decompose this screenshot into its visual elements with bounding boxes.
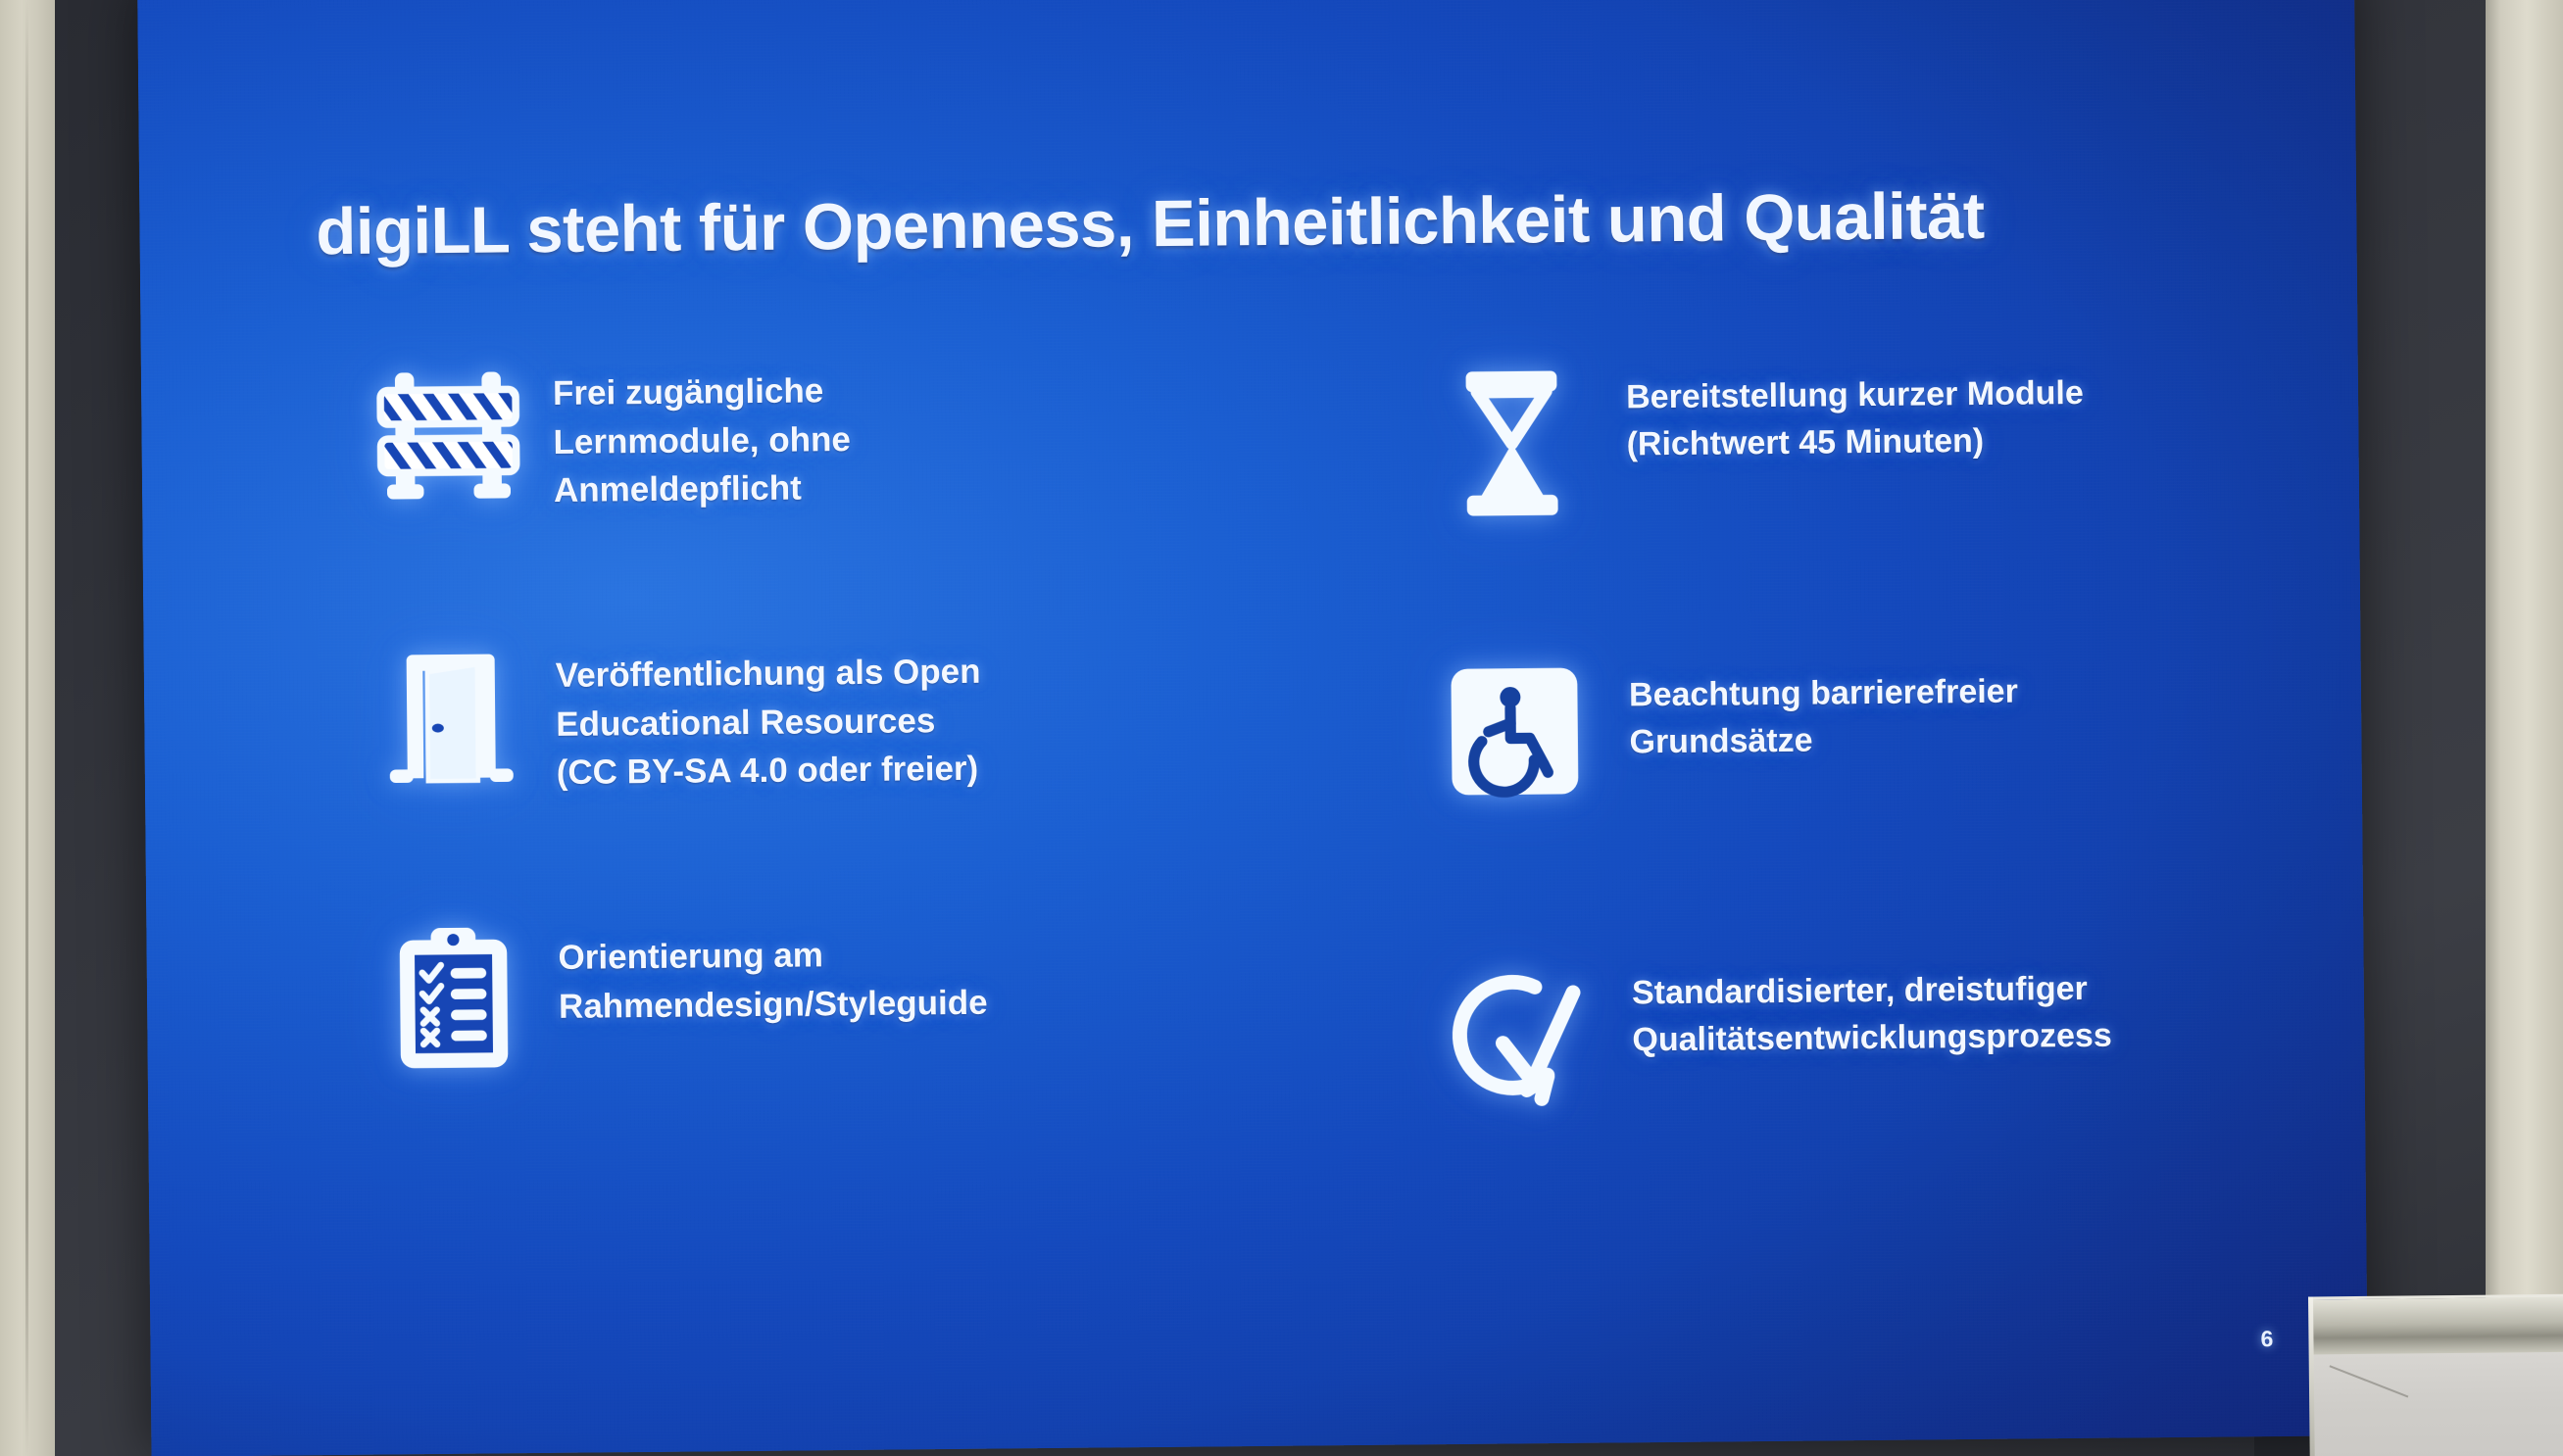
feature-text-line: Qualitätsentwicklungsprozess <box>1632 1010 2323 1064</box>
feature-item: Beachtung barrierefreier Grundsätze <box>1399 652 2322 856</box>
feature-item: Veröffentlichung als Open Educational Re… <box>344 630 1385 836</box>
feature-text-line: Bereitstellung kurzer Module <box>1626 367 2317 421</box>
feature-text-line: Rahmendesign/Styleguide <box>559 974 1387 1031</box>
feature-text-line: (Richtwert 45 Minuten) <box>1626 414 2317 468</box>
feature-text: Beachtung barrierefreier Grundsätze <box>1629 652 2321 766</box>
projected-slide: digiLL steht für Openness, Einheitlichke… <box>137 0 2368 1456</box>
slide-title: digiLL steht für Openness, Einheitlichke… <box>316 175 2277 269</box>
feature-text-line: Grundsätze <box>1629 712 2320 766</box>
feature-text: Orientierung am Rahmendesign/Styleguide <box>558 912 1387 1031</box>
feature-item: Frei zugängliche Lernmodule, ohne Anmeld… <box>342 348 1383 554</box>
feature-item: Orientierung am Rahmendesign/Styleguide <box>347 912 1388 1118</box>
feature-text-line: (CC BY-SA 4.0 oder freier) <box>557 741 1385 798</box>
flipchart-paper <box>2313 1346 2563 1456</box>
feature-text-line: Standardisierter, dreistufiger <box>1632 963 2323 1017</box>
wall-right <box>2483 0 2563 1456</box>
slide-content: digiLL steht für Openness, Einheitlichke… <box>137 0 2368 1456</box>
wall-left <box>0 0 61 1456</box>
feature-item: Standardisierter, dreistufiger Qualitäts… <box>1402 949 2325 1154</box>
projection-scene: digiLL steht für Openness, Einheitlichke… <box>0 0 2563 1456</box>
feature-text-line: Beachtung barrierefreier <box>1629 665 2320 719</box>
feature-text-line: Anmeldepflicht <box>554 459 1382 515</box>
feature-text-line: Veröffentlichung als Open <box>556 644 1384 701</box>
feature-text: Standardisierter, dreistufiger Qualitäts… <box>1632 949 2324 1064</box>
clipboard-checklist-icon <box>347 920 559 1075</box>
feature-column-right: Bereitstellung kurzer Module (Richtwert … <box>1396 354 2326 1256</box>
wheelchair-accessibility-icon <box>1399 657 1630 801</box>
feature-column-left: Frei zugängliche Lernmodule, ohne Anmeld… <box>342 348 1389 1204</box>
feature-text: Veröffentlichung als Open Educational Re… <box>555 630 1385 798</box>
flipchart-clamp-bar <box>2312 1293 2563 1354</box>
feature-text-line: Educational Resources <box>556 693 1384 750</box>
feature-item: Bereitstellung kurzer Module (Richtwert … <box>1396 354 2319 558</box>
barrier-icon <box>342 356 554 509</box>
feature-text-line: Lernmodule, ohne <box>553 411 1381 467</box>
feature-text-line: Orientierung am <box>558 926 1386 983</box>
hourglass-icon <box>1396 360 1628 522</box>
feature-text: Bereitstellung kurzer Module (Richtwert … <box>1626 354 2318 468</box>
open-door-icon <box>344 638 556 791</box>
feature-text-line: Frei zugängliche <box>553 362 1381 418</box>
flipchart-board <box>2304 1293 2563 1456</box>
circular-arrow-check-icon <box>1402 955 1633 1108</box>
page-number: 6 <box>2260 1326 2273 1352</box>
feature-text: Frei zugängliche Lernmodule, ohne Anmeld… <box>553 348 1383 515</box>
